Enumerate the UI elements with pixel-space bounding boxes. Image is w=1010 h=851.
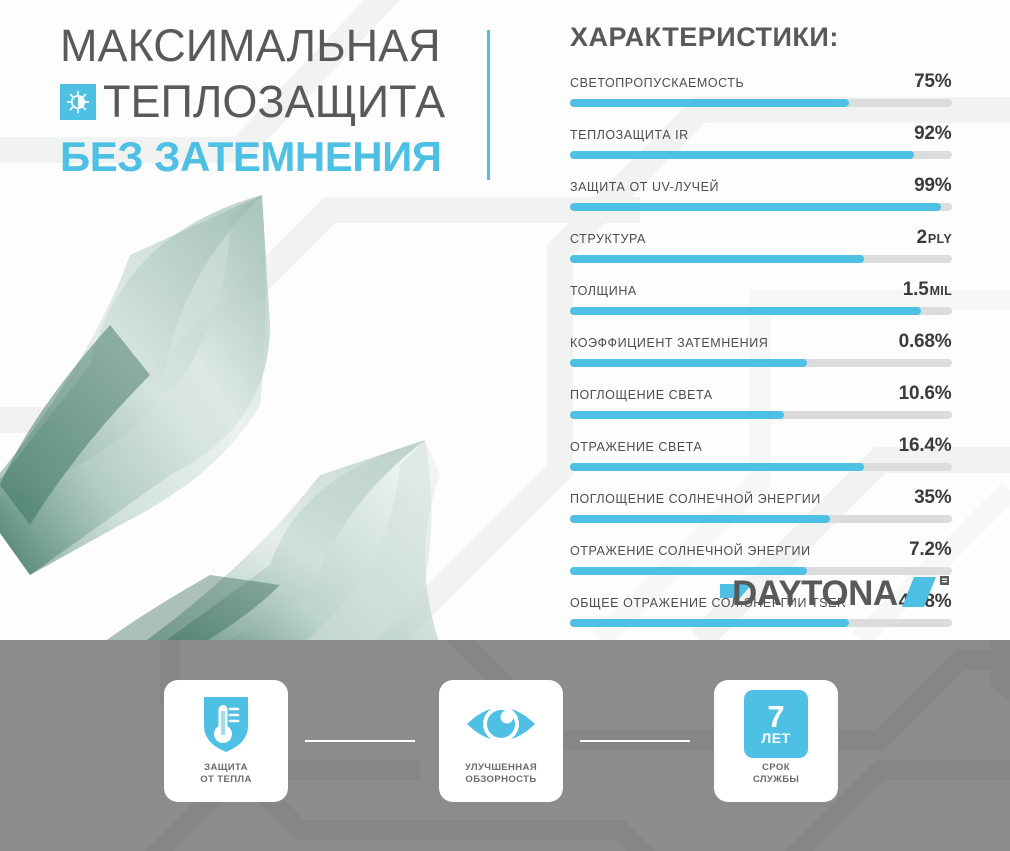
spec-row: ЗАЩИТА ОТ UV-ЛУЧЕЙ99% <box>570 175 952 211</box>
years-badge-icon: 7 ЛЕТ <box>744 686 808 762</box>
spec-bar-track <box>570 255 952 263</box>
spec-row-header: КОЭФФИЦИЕНТ ЗАТЕМНЕНИЯ0.68% <box>570 331 952 353</box>
headline-divider <box>487 30 490 180</box>
spec-row: ПОГЛОЩЕНИЕ СВЕТА10.6% <box>570 383 952 419</box>
spec-value-unit: PLY <box>928 232 952 246</box>
spec-row: СВЕТОПРОПУСКАЕМОСТЬ75% <box>570 71 952 107</box>
spec-value-unit: % <box>935 383 952 404</box>
specifications-panel: ХАРАКТЕРИСТИКИ: СВЕТОПРОПУСКАЕМОСТЬ75%ТЕ… <box>570 22 952 640</box>
specifications-title: ХАРАКТЕРИСТИКИ: <box>570 22 952 53</box>
spec-value: 2PLY <box>917 227 952 249</box>
spec-label: СВЕТОПРОПУСКАЕМОСТЬ <box>570 76 744 90</box>
badge-heat-protection[interactable]: ЗАЩИТА ОТ ТЕПЛА <box>164 680 288 802</box>
eye-icon <box>465 686 537 762</box>
spec-value-number: 35 <box>914 487 935 508</box>
badge-caption: СРОК СЛУЖБЫ <box>753 762 799 785</box>
spec-value-unit: MIL <box>930 284 952 298</box>
spec-row-header: ОТРАЖЕНИЕ СВЕТА16.4% <box>570 435 952 457</box>
spec-row-header: СВЕТОПРОПУСКАЕМОСТЬ75% <box>570 71 952 93</box>
spec-row-header: ТОЛЩИНА1.5MIL <box>570 279 952 301</box>
spec-value-number: 99 <box>914 175 935 196</box>
spec-bar-fill <box>570 255 864 263</box>
spec-bar-fill <box>570 203 941 211</box>
spec-bar-track <box>570 463 952 471</box>
spec-value-unit: % <box>935 435 952 456</box>
spec-row: ТОЛЩИНА1.5MIL <box>570 279 952 315</box>
spec-bar-track <box>570 151 952 159</box>
spec-value-number: 92 <box>914 123 935 144</box>
spec-value-number: 0.68 <box>899 331 935 352</box>
badge-connector-1 <box>305 740 415 742</box>
spec-value: 99% <box>914 175 952 197</box>
headline-line-1: МАКСИМАЛЬНАЯ <box>60 18 490 74</box>
spec-label: ПОГЛОЩЕНИЕ СОЛНЕЧНОЙ ЭНЕРГИИ <box>570 492 821 506</box>
sun-brightness-icon <box>60 84 96 120</box>
spec-value-number: 10.6 <box>899 383 935 404</box>
spec-bar-fill <box>570 359 807 367</box>
spec-value: 7.2% <box>909 539 952 561</box>
spec-row-header: СТРУКТУРА2PLY <box>570 227 952 249</box>
spec-label: ОТРАЖЕНИЕ СОЛНЕЧНОЙ ЭНЕРГИИ <box>570 544 811 558</box>
spec-value: 75% <box>914 71 952 93</box>
spec-row: СТРУКТУРА2PLY <box>570 227 952 263</box>
badge-caption: УЛУЧШЕННАЯ ОБЗОРНОСТЬ <box>465 762 537 785</box>
spec-row-header: ОТРАЖЕНИЕ СОЛНЕЧНОЙ ЭНЕРГИИ7.2% <box>570 539 952 561</box>
spec-value: 92% <box>914 123 952 145</box>
headline-line-3: БЕЗ ЗАТЕМНЕНИЯ <box>60 130 490 184</box>
spec-bar-fill <box>570 307 921 315</box>
spec-value: 35% <box>914 487 952 509</box>
spec-value-unit: % <box>935 175 952 196</box>
spec-bar-fill <box>570 151 914 159</box>
daytona-logo: DAYTONA <box>718 572 952 612</box>
shield-thermometer-icon <box>200 686 252 762</box>
feature-badges: ЗАЩИТА ОТ ТЕПЛА УЛУЧШЕННАЯ ОБЗОРНОСТЬ <box>0 640 1010 851</box>
spec-bar-track <box>570 203 952 211</box>
spec-label: СТРУКТУРА <box>570 232 646 246</box>
spec-label: ПОГЛОЩЕНИЕ СВЕТА <box>570 388 713 402</box>
spec-bar-track <box>570 619 952 627</box>
spec-label: ТЕПЛОЗАЩИТА IR <box>570 128 689 142</box>
years-number: 7 <box>767 703 784 731</box>
spec-value-number: 1.5 <box>903 279 929 300</box>
spec-row-header: ПОГЛОЩЕНИЕ СОЛНЕЧНОЙ ЭНЕРГИИ35% <box>570 487 952 509</box>
years-box: 7 ЛЕТ <box>744 690 808 758</box>
badge-service-life[interactable]: 7 ЛЕТ СРОК СЛУЖБЫ <box>714 680 838 802</box>
spec-value: 1.5MIL <box>903 279 952 301</box>
logo-wordmark-text: DAYTONA <box>732 574 898 612</box>
spec-value-unit: % <box>935 331 952 352</box>
window-film-illustration <box>0 175 490 640</box>
spec-value-number: 7.2 <box>909 539 935 560</box>
spec-bar-fill <box>570 463 864 471</box>
spec-row-header: ПОГЛОЩЕНИЕ СВЕТА10.6% <box>570 383 952 405</box>
spec-value: 16.4% <box>899 435 952 457</box>
spec-value-unit: % <box>935 539 952 560</box>
spec-row: ПОГЛОЩЕНИЕ СОЛНЕЧНОЙ ЭНЕРГИИ35% <box>570 487 952 523</box>
headline-block: МАКСИМАЛЬНАЯ <box>60 18 490 184</box>
headline-line-2-text: ТЕПЛОЗАЩИТА <box>103 74 445 130</box>
spec-row-header: ЗАЩИТА ОТ UV-ЛУЧЕЙ99% <box>570 175 952 197</box>
spec-row: ОТРАЖЕНИЕ СВЕТА16.4% <box>570 435 952 471</box>
spec-bar-track <box>570 359 952 367</box>
badge-connector-2 <box>580 740 690 742</box>
specifications-list: СВЕТОПРОПУСКАЕМОСТЬ75%ТЕПЛОЗАЩИТА IR92%З… <box>570 71 952 627</box>
spec-bar-track <box>570 307 952 315</box>
spec-bar-track <box>570 99 952 107</box>
spec-row-header: ТЕПЛОЗАЩИТА IR92% <box>570 123 952 145</box>
headline-line-2: ТЕПЛОЗАЩИТА <box>60 74 490 130</box>
top-section: МАКСИМАЛЬНАЯ <box>0 0 1010 640</box>
spec-value-unit: % <box>935 71 952 92</box>
spec-label: ТОЛЩИНА <box>570 284 637 298</box>
spec-row: ОТРАЖЕНИЕ СОЛНЕЧНОЙ ЭНЕРГИИ7.2% <box>570 539 952 575</box>
spec-value-number: 2 <box>917 227 927 248</box>
spec-value-unit: % <box>935 123 952 144</box>
years-label: ЛЕТ <box>761 731 790 746</box>
spec-label: КОЭФФИЦИЕНТ ЗАТЕМНЕНИЯ <box>570 336 768 350</box>
badge-improved-visibility[interactable]: УЛУЧШЕННАЯ ОБЗОРНОСТЬ <box>439 680 563 802</box>
spec-bar-fill <box>570 411 784 419</box>
spec-label: ОТРАЖЕНИЕ СВЕТА <box>570 440 702 454</box>
spec-value: 0.68% <box>899 331 952 353</box>
spec-bar-fill <box>570 99 849 107</box>
spec-row: ТЕПЛОЗАЩИТА IR92% <box>570 123 952 159</box>
spec-value-number: 16.4 <box>899 435 935 456</box>
spec-bar-track <box>570 515 952 523</box>
spec-bar-track <box>570 411 952 419</box>
spec-value: 10.6% <box>899 383 952 405</box>
spec-value-unit: % <box>935 487 952 508</box>
spec-bar-fill <box>570 619 849 627</box>
spec-row: КОЭФФИЦИЕНТ ЗАТЕМНЕНИЯ0.68% <box>570 331 952 367</box>
footer-section: ЗАЩИТА ОТ ТЕПЛА УЛУЧШЕННАЯ ОБЗОРНОСТЬ <box>0 640 1010 851</box>
spec-label: ЗАЩИТА ОТ UV-ЛУЧЕЙ <box>570 180 719 194</box>
spec-bar-fill <box>570 515 830 523</box>
infographic-root: МАКСИМАЛЬНАЯ <box>0 0 1010 851</box>
spec-value-number: 75 <box>914 71 935 92</box>
badge-caption: ЗАЩИТА ОТ ТЕПЛА <box>200 762 252 785</box>
